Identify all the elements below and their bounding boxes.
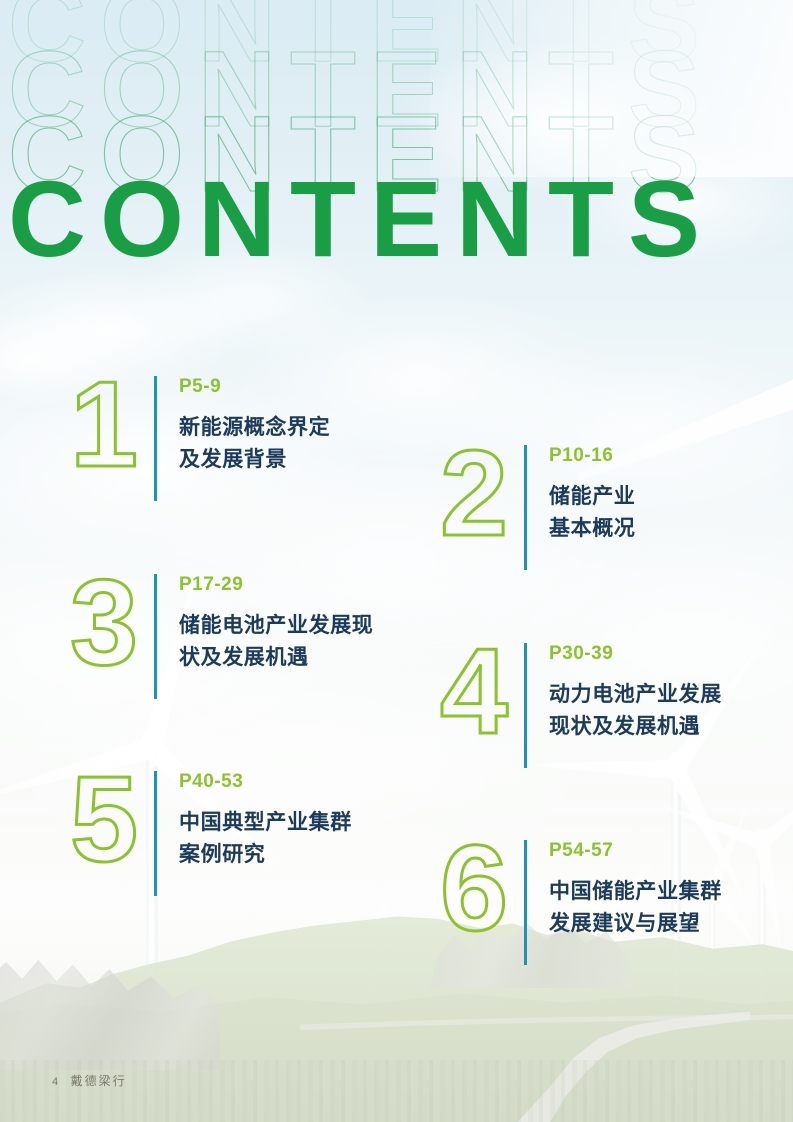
toc-number-6: 6 bbox=[428, 832, 520, 944]
page-footer: 4 戴德梁行 bbox=[52, 1072, 127, 1089]
toc-entry-1[interactable]: 1 P5-9 新能源概念界定 及发展背景 bbox=[58, 368, 330, 501]
toc-number-4: 4 bbox=[428, 635, 520, 747]
toc-title-line-1: 中国储能产业集群 bbox=[549, 876, 722, 908]
toc-entry-5[interactable]: 5 P40-53 中国典型产业集群 案例研究 bbox=[58, 763, 352, 896]
toc-entry-3[interactable]: 3 P17-29 储能电池产业发展现 状及发展机遇 bbox=[58, 566, 373, 699]
toc-title-line-1: 中国典型产业集群 bbox=[179, 807, 352, 839]
toc-divider-1 bbox=[154, 376, 157, 501]
toc-title-4: 动力电池产业发展 现状及发展机遇 bbox=[549, 679, 722, 743]
toc-entry-2[interactable]: 2 P10-16 储能产业 基本概况 bbox=[428, 437, 635, 570]
toc-number-2: 2 bbox=[428, 437, 520, 549]
toc-title-line-1: 动力电池产业发展 bbox=[549, 679, 722, 711]
toc-divider-4 bbox=[524, 643, 527, 768]
toc-text-2: P10-16 储能产业 基本概况 bbox=[549, 437, 635, 545]
toc-divider-3 bbox=[154, 574, 157, 699]
toc-page-range-1: P5-9 bbox=[179, 376, 330, 398]
toc-title-line-1: 储能产业 bbox=[549, 481, 635, 513]
toc-title-line-2: 案例研究 bbox=[179, 839, 352, 871]
page-title-block: CONTENTS CONTENTS CONTENTS CONTENTS bbox=[0, 0, 793, 292]
toc-title-3: 储能电池产业发展现 状及发展机遇 bbox=[179, 610, 373, 674]
toc-entry-6[interactable]: 6 P54-57 中国储能产业集群 发展建议与展望 bbox=[428, 832, 722, 965]
toc-entry-4[interactable]: 4 P30-39 动力电池产业发展 现状及发展机遇 bbox=[428, 635, 722, 768]
toc-text-6: P54-57 中国储能产业集群 发展建议与展望 bbox=[549, 832, 722, 940]
toc-divider-2 bbox=[524, 445, 527, 570]
page-title: CONTENTS bbox=[8, 165, 714, 273]
toc-title-line-1: 储能电池产业发展现 bbox=[179, 610, 373, 642]
toc-divider-6 bbox=[524, 840, 527, 965]
toc-page-range-6: P54-57 bbox=[549, 840, 722, 862]
toc-title-line-2: 发展建议与展望 bbox=[549, 908, 722, 940]
toc-title-line-2: 及发展背景 bbox=[179, 444, 330, 476]
toc-text-3: P17-29 储能电池产业发展现 状及发展机遇 bbox=[179, 566, 373, 674]
toc-divider-5 bbox=[154, 771, 157, 896]
toc-title-2: 储能产业 基本概况 bbox=[549, 481, 635, 545]
footer-page-number: 4 bbox=[52, 1076, 59, 1088]
footer-brand: 戴德梁行 bbox=[71, 1072, 127, 1089]
toc-page-range-3: P17-29 bbox=[179, 574, 373, 596]
toc-page-range-5: P40-53 bbox=[179, 771, 352, 793]
toc-number-1: 1 bbox=[58, 368, 150, 480]
toc-title-6: 中国储能产业集群 发展建议与展望 bbox=[549, 876, 722, 940]
toc-title-5: 中国典型产业集群 案例研究 bbox=[179, 807, 352, 871]
toc-page-range-2: P10-16 bbox=[549, 445, 635, 467]
toc-text-1: P5-9 新能源概念界定 及发展背景 bbox=[179, 368, 330, 476]
toc-number-5: 5 bbox=[58, 763, 150, 875]
toc-title-line-2: 现状及发展机遇 bbox=[549, 711, 722, 743]
toc-text-5: P40-53 中国典型产业集群 案例研究 bbox=[179, 763, 352, 871]
toc-number-3: 3 bbox=[58, 566, 150, 678]
toc-title-line-2: 基本概况 bbox=[549, 513, 635, 545]
toc-page-range-4: P30-39 bbox=[549, 643, 722, 665]
toc-title-line-2: 状及发展机遇 bbox=[179, 642, 373, 674]
toc-title-1: 新能源概念界定 及发展背景 bbox=[179, 412, 330, 476]
toc-title-line-1: 新能源概念界定 bbox=[179, 412, 330, 444]
toc-text-4: P30-39 动力电池产业发展 现状及发展机遇 bbox=[549, 635, 722, 743]
contents-page: CONTENTS CONTENTS CONTENTS CONTENTS 1 P5… bbox=[0, 0, 793, 1122]
